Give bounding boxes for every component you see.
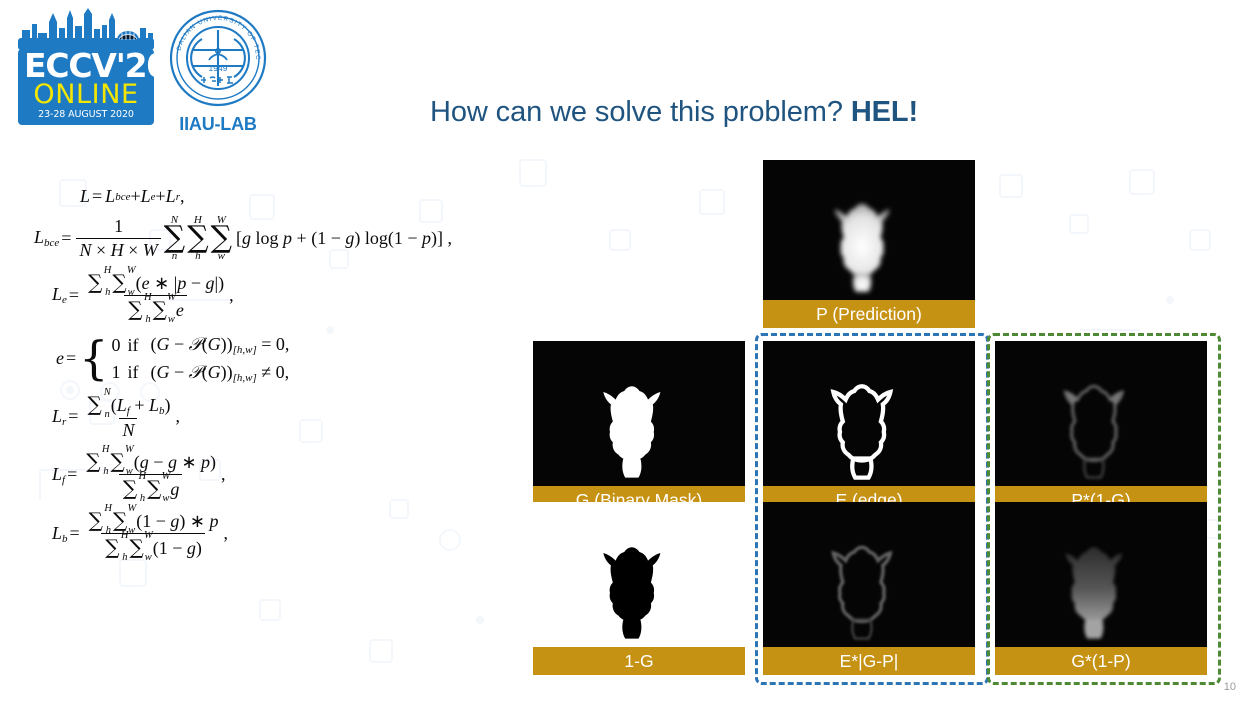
edge-outline-shape (763, 341, 975, 486)
tile-binary-mask: G (Binary Mask) (533, 341, 745, 514)
loss-equations-block: L = Lbce + Le + Lr, Lbce = 1 N × H × W N… (34, 186, 474, 561)
dut-seal-icon: DALIAN UNIVERSITY OF TECHNOLOGY 1949 (168, 8, 268, 108)
equation-bce-loss: Lbce = 1 N × H × W N∑n H∑h W∑w [g log p … (34, 215, 474, 262)
equation-region-loss: Lr = ∑Nn(Lf + Lb) N , (52, 392, 474, 441)
equation-edge-indicator: e = { 0 if (G − 𝒫(G))[h,w] = 0, 1 if (G … (56, 331, 474, 387)
p-times-one-minus-g-shape (995, 341, 1207, 486)
tile-e-times-abs-g-minus-p-caption: E*|G-P| (763, 647, 975, 675)
tile-g-times-one-minus-p: G*(1-P) (995, 502, 1207, 675)
tile-e-times-abs-g-minus-p-image (763, 502, 975, 647)
svg-text:1949: 1949 (209, 63, 228, 73)
slide-number: 10 (1224, 681, 1236, 693)
equation-foreground-loss: Lf = ∑Hh∑Ww(g − g ∗ p) ∑Hh∑Wwg , (52, 449, 474, 500)
tile-prediction-image (763, 160, 975, 300)
page-title: How can we solve this problem? HEL! (430, 96, 918, 129)
tile-e-times-abs-g-minus-p: E*|G-P| (763, 502, 975, 675)
tile-binary-mask-image (533, 341, 745, 486)
tile-g-times-one-minus-p-image (995, 502, 1207, 647)
tile-p-times-one-minus-g-image (995, 341, 1207, 486)
inverted-mask-shape (533, 502, 745, 647)
logo-block: ECCV'20 ONLINE 23-28 AUGUST 2020 DALIAN … (18, 8, 270, 135)
eccv-dates-label: 23-28 AUGUST 2020 (24, 109, 148, 120)
equation-background-loss: Lb = ∑Hh∑Ww(1 − g) ∗ p ∑Hh∑Ww(1 − g) , (52, 508, 474, 559)
g-times-one-minus-p-shape (995, 502, 1207, 647)
dut-lab-label: IIAU-LAB (166, 114, 270, 135)
edge-difference-shape (763, 502, 975, 647)
tile-prediction: P (Prediction) (763, 160, 975, 328)
eccv-logo: ECCV'20 ONLINE 23-28 AUGUST 2020 (18, 8, 154, 125)
tile-one-minus-g-image (533, 502, 745, 647)
tile-edge: E (edge) (763, 341, 975, 514)
eccv-online-label: ONLINE (24, 82, 148, 108)
equation-total-loss: L = Lbce + Le + Lr, (80, 186, 474, 207)
svg-text:DALIAN UNIVERSITY OF TECHNOLOG: DALIAN UNIVERSITY OF TECHNOLOGY (168, 8, 261, 61)
prediction-mask-shape (763, 160, 975, 300)
equation-edge-loss: Le = ∑Hh∑Ww(e ∗ |p − g|) ∑Hh∑Wwe , (52, 270, 474, 321)
tile-g-times-one-minus-p-caption: G*(1-P) (995, 647, 1207, 675)
tile-p-times-one-minus-g: P*(1-G) (995, 341, 1207, 514)
eccv-title: ECCV'20 (24, 50, 148, 82)
tile-one-minus-g: 1-G (533, 502, 745, 675)
eccv-skyline-icon (18, 8, 154, 50)
tile-edge-image (763, 341, 975, 486)
page-title-plain: How can we solve this problem? (430, 96, 851, 128)
tile-prediction-caption: P (Prediction) (763, 300, 975, 328)
tile-one-minus-g-caption: 1-G (533, 647, 745, 675)
dut-logo: DALIAN UNIVERSITY OF TECHNOLOGY 1949 IIA… (166, 8, 270, 135)
binary-mask-shape (533, 341, 745, 486)
page-title-emphasis: HEL! (851, 96, 918, 128)
